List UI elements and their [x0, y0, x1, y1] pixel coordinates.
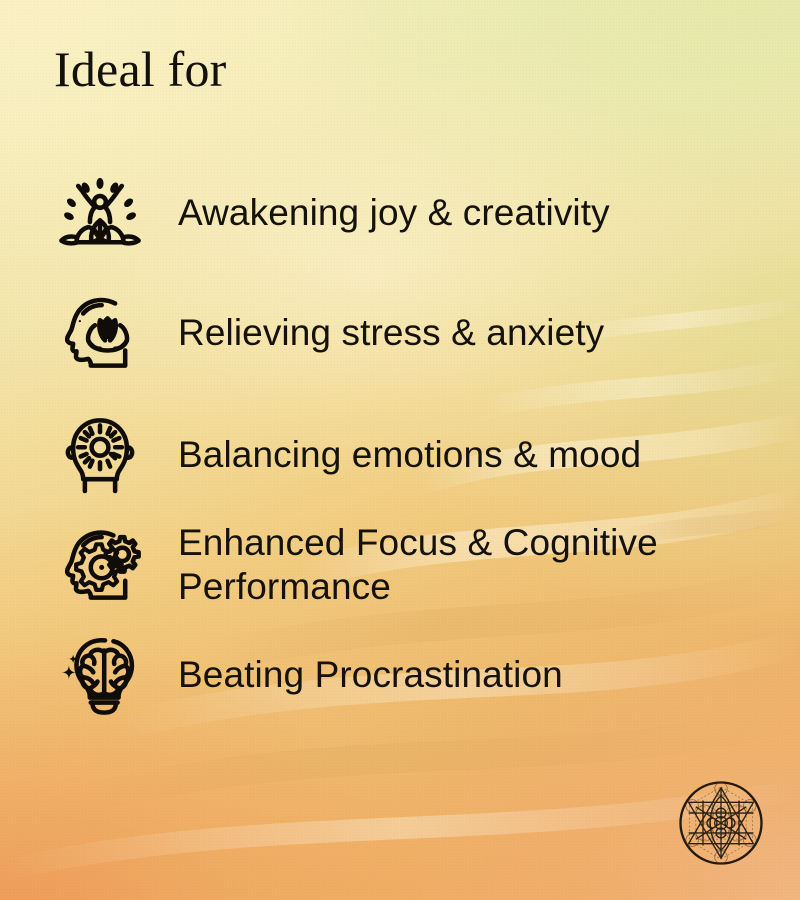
- benefit-label: Awakening joy & creativity: [152, 189, 748, 235]
- benefit-label: Beating Procrastination: [152, 651, 748, 697]
- page-title: Ideal for: [54, 42, 227, 97]
- benefit-item-enhanced-focus: Enhanced Focus & Cognitive Performance: [48, 512, 748, 616]
- head-sun-icon: [48, 402, 152, 506]
- benefit-item-relieving-stress: Relieving stress & anxiety: [48, 280, 748, 384]
- sacred-geometry-metatron-logo: [676, 778, 766, 868]
- benefit-item-beating-procrastination: Beating Procrastination: [48, 622, 748, 726]
- benefit-item-awakening-joy: Awakening joy & creativity: [48, 160, 748, 264]
- lightbulb-brain-icon: [48, 622, 152, 726]
- head-gears-icon: [48, 512, 152, 616]
- benefit-list: Awakening joy & creativity: [48, 160, 748, 726]
- head-lotus-icon: [48, 280, 152, 384]
- poster-canvas: Ideal for: [0, 0, 800, 900]
- benefit-item-balancing-emotions: Balancing emotions & mood: [48, 402, 748, 506]
- person-lotus-icon: [48, 160, 152, 264]
- benefit-label: Enhanced Focus & Cognitive Performance: [152, 519, 748, 610]
- benefit-label: Relieving stress & anxiety: [152, 309, 748, 355]
- benefit-label: Balancing emotions & mood: [152, 431, 748, 477]
